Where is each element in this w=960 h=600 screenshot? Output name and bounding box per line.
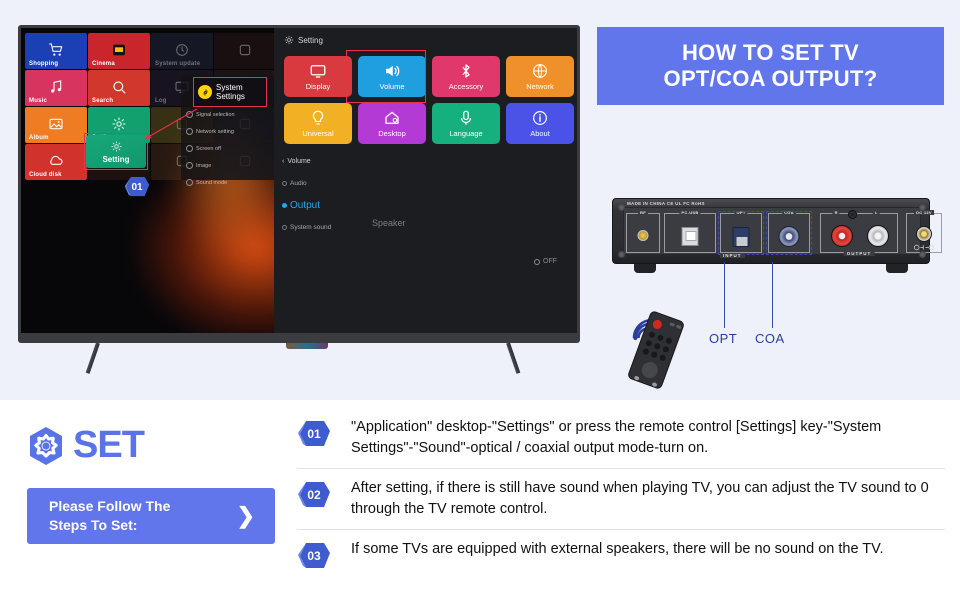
step-badge-01: 01 (124, 176, 150, 198)
settings-tile-language[interactable]: Language (432, 103, 500, 144)
music-icon (48, 79, 64, 95)
system-menu-item-label: Signal selection (196, 112, 235, 118)
app-tile-label: Shopping (29, 61, 83, 67)
remote-control (630, 310, 690, 390)
settings-tile-label: Display (306, 82, 331, 91)
port-label-r: R (833, 210, 840, 215)
converter-device: MADE IN CHINA CE UL FC RoHS RF PC-USB (612, 198, 930, 276)
side-menu-item-label: Output (290, 200, 320, 211)
off-label: OFF (543, 258, 557, 265)
usb-b-jack-icon (682, 227, 699, 246)
app-tile-album[interactable]: Album (25, 107, 87, 143)
app-tile-label: Search (92, 98, 146, 104)
screw-icon (618, 251, 625, 258)
app-tile-label: Cloud disk (29, 172, 83, 178)
cloud-icon (48, 153, 64, 169)
tv-settings-panel: Setting DisplayVolumeAccessoryNetworkUni… (274, 28, 577, 333)
system-settings-label: System Settings (216, 83, 266, 102)
coa-callout-label: COA (755, 331, 785, 346)
app-tile-music[interactable]: Music (25, 70, 87, 106)
step-item: 03If some TVs are equipped with external… (297, 529, 945, 581)
screw-icon (618, 204, 625, 211)
menu-bullet-icon (186, 179, 193, 186)
menu-bullet-icon (282, 181, 287, 186)
steps-list: 01"Application" desktop-"Settings" or pr… (297, 408, 945, 581)
set-logo-text: SET (73, 424, 144, 467)
info-icon (530, 109, 550, 127)
device-top-marking: MADE IN CHINA CE UL FC RoHS (627, 201, 705, 206)
port-label-l: L (873, 210, 880, 215)
device-foot-left (634, 264, 656, 273)
device-foot-right (886, 264, 908, 273)
gear-icon (111, 116, 127, 132)
app-tile-system-update[interactable]: System update (151, 33, 213, 69)
volume-tile-highlight[interactable] (346, 50, 426, 103)
step-text: If some TVs are equipped with external s… (351, 539, 884, 560)
film-icon (111, 42, 127, 58)
device-faceplate: RF PC-USB OPT (623, 207, 921, 255)
settings-tile-about[interactable]: About (506, 103, 574, 144)
step-text: After setting, if there is still have so… (351, 478, 945, 520)
remote-button[interactable] (662, 345, 670, 353)
bulb-icon (308, 109, 328, 127)
setting-tile[interactable]: Setting (86, 135, 146, 168)
top-section: ShoppingCinemaSystem updateMusicSearchLo… (0, 0, 960, 400)
remote-button[interactable] (645, 339, 653, 347)
remote-button[interactable] (654, 342, 662, 350)
home-icon (382, 109, 402, 127)
menu-bullet-icon (282, 225, 287, 230)
center-screw-icon (848, 210, 857, 219)
app-icon (237, 42, 253, 58)
rf-jack-icon (638, 230, 649, 241)
settings-tile-display[interactable]: Display (284, 56, 352, 97)
settings-tile-grid: DisplayVolumeAccessoryNetworkUniversalDe… (284, 56, 574, 144)
gear-hexagon-icon (28, 426, 64, 466)
remote-button[interactable] (642, 348, 650, 356)
settings-side-menu: ‹VolumeAudioOutputSystem sound (276, 150, 346, 238)
side-menu-item-output[interactable]: Output (276, 194, 346, 216)
photo-icon (48, 116, 64, 132)
step-number-label: 01 (297, 420, 331, 448)
app-tile-label: Music (29, 98, 83, 104)
port-group-output: R L OUTPUT (820, 213, 898, 253)
search-icon (111, 79, 127, 95)
setting-tile-label: Setting (102, 155, 129, 164)
settings-tile-label: Language (449, 129, 482, 138)
settings-tile-desktop[interactable]: Desktop (358, 103, 426, 144)
cart-icon (48, 42, 64, 58)
settings-panel-header: Setting (284, 35, 323, 45)
cta-text: Please Follow The Steps To Set: (49, 497, 170, 535)
cta-line1: Please Follow The (49, 498, 170, 514)
step-number-badge: 01 (297, 420, 331, 448)
system-menu-item-label: Sound mode (196, 180, 227, 186)
menu-bullet-icon (186, 162, 193, 169)
settings-tile-network[interactable]: Network (506, 56, 574, 97)
remote-button[interactable] (648, 331, 656, 339)
polarity-icon (913, 244, 935, 251)
step-number-label: 03 (297, 542, 331, 570)
input-group-label: INPUT (720, 253, 745, 258)
remote-button[interactable] (659, 354, 667, 362)
header-title-line2: OPT/COA OUTPUT? (664, 66, 878, 92)
settings-panel-title: Setting (298, 36, 323, 45)
side-menu-back[interactable]: ‹Volume (276, 150, 346, 172)
tv-leg-right (506, 342, 520, 374)
menu-bullet-icon (186, 145, 193, 152)
search-icon (111, 79, 127, 95)
port-group-rf: RF (626, 213, 660, 253)
gear-icon (110, 140, 123, 153)
opt-callout-label: OPT (709, 331, 737, 346)
remote-button[interactable] (676, 325, 682, 330)
globe-icon (530, 62, 550, 80)
gear-icon (284, 35, 294, 45)
power-button[interactable] (652, 319, 664, 331)
radio-icon (534, 259, 540, 265)
output-group-label: OUTPUT (844, 251, 875, 256)
bottom-section: SET Please Follow The Steps To Set: ❯ 01… (0, 400, 960, 600)
step-number-badge: 03 (297, 542, 331, 570)
speaker-section-title: Speaker (372, 218, 406, 228)
follow-steps-button[interactable]: Please Follow The Steps To Set: ❯ (27, 488, 275, 544)
step-number-badge: 02 (297, 481, 331, 509)
settings-tile-label: Accessory (449, 82, 484, 91)
app-tile-cloud-disk[interactable]: Cloud disk (25, 144, 87, 180)
rca-red-jack-icon (831, 225, 853, 247)
monitor-icon (308, 62, 328, 80)
settings-tile-universal[interactable]: Universal (284, 103, 352, 144)
set-logo: SET (28, 424, 144, 467)
side-menu-item-system-sound[interactable]: System sound (276, 216, 346, 238)
app-tile-search[interactable]: Search (88, 70, 150, 106)
tv-screen: ShoppingCinemaSystem updateMusicSearchLo… (21, 28, 577, 333)
remote-button[interactable] (665, 337, 673, 345)
header-card: HOW TO SET TV OPT/COA OUTPUT? (597, 27, 944, 105)
coa-callout-line (772, 262, 773, 328)
remote-button[interactable] (634, 375, 640, 380)
update-icon (174, 42, 190, 58)
side-menu-item-audio[interactable]: Audio (276, 172, 346, 194)
dc-power-jack-icon (916, 226, 932, 242)
app-tile-3[interactable] (214, 33, 276, 69)
music-icon (48, 79, 64, 95)
app-tile-cinema[interactable]: Cinema (88, 33, 150, 69)
header-title-line1: HOW TO SET TV (682, 40, 859, 66)
system-menu-item-label: Image (196, 163, 211, 169)
gear-icon (198, 85, 212, 99)
dpad-button[interactable] (640, 360, 661, 381)
device-body: MADE IN CHINA CE UL FC RoHS RF PC-USB (612, 198, 930, 264)
infographic-page: ShoppingCinemaSystem updateMusicSearchLo… (0, 0, 960, 600)
system-menu-item-label: Network setting (196, 129, 234, 135)
chevron-left-icon: ‹ (282, 158, 284, 165)
remote-button[interactable] (669, 322, 675, 327)
cta-line2: Steps To Set: (49, 517, 137, 533)
power-label: DC 12V (914, 210, 934, 215)
port-label-usb: PC-USB (679, 210, 700, 215)
cloud-icon (48, 153, 64, 169)
screw-icon (919, 204, 926, 211)
output-off-toggle[interactable]: OFF (534, 258, 557, 265)
settings-tile-label: Desktop (378, 129, 406, 138)
tv-leg-left (86, 342, 100, 374)
settings-tile-accessory[interactable]: Accessory (432, 56, 500, 97)
film-icon (111, 42, 127, 58)
pointer-arrow-icon (141, 106, 201, 142)
step-text: "Application" desktop-"Settings" or pres… (351, 417, 945, 459)
photo-icon (48, 116, 64, 132)
side-menu-back-label: Volume (287, 158, 310, 165)
tv-illustration: ShoppingCinemaSystem updateMusicSearchLo… (18, 25, 580, 345)
tv-home-panel: ShoppingCinemaSystem updateMusicSearchLo… (21, 28, 274, 180)
side-menu-item-label: System sound (290, 224, 331, 231)
cart-icon (48, 42, 64, 58)
settings-tile-label: Universal (302, 129, 333, 138)
coa-port-selection (766, 211, 812, 255)
port-label-rf: RF (638, 210, 648, 215)
tv-logo-badge (286, 343, 328, 349)
rca-white-jack-icon (867, 225, 889, 247)
opt-callout-line (724, 262, 725, 328)
bluetooth-icon (456, 62, 476, 80)
system-menu-item[interactable]: Screen off (181, 140, 274, 157)
settings-tile-label: Network (526, 82, 554, 91)
settings-tile-label: About (530, 129, 550, 138)
mic-icon (456, 109, 476, 127)
screw-icon (919, 251, 926, 258)
port-group-power: DC 12V (906, 213, 942, 253)
app-tile-label: System update (155, 61, 209, 67)
menu-bullet-icon (282, 203, 287, 208)
app-tile-shopping[interactable]: Shopping (25, 33, 87, 69)
app-tile-label: Cinema (92, 61, 146, 67)
setting-tile-highlight[interactable]: Setting (84, 133, 148, 170)
step-badge-01-label: 01 (124, 176, 150, 198)
step-number-label: 02 (297, 481, 331, 509)
update-icon (174, 42, 190, 58)
step-item: 02After setting, if there is still have … (297, 468, 945, 529)
system-menu-item[interactable]: Sound mode (181, 174, 274, 191)
remote-button[interactable] (652, 382, 658, 387)
app-icon (237, 42, 253, 58)
opt-port-selection (718, 211, 764, 255)
system-settings-highlight[interactable]: System Settings (193, 77, 267, 107)
step-item: 01"Application" desktop-"Settings" or pr… (297, 408, 945, 468)
system-menu-item-label: Screen off (196, 146, 221, 152)
side-menu-item-label: Audio (290, 180, 307, 187)
remote-button[interactable] (650, 351, 658, 359)
app-tile-label: Album (29, 135, 83, 141)
tv-bezel: ShoppingCinemaSystem updateMusicSearchLo… (18, 25, 580, 343)
gear-icon (111, 116, 127, 132)
chevron-right-icon: ❯ (237, 503, 255, 529)
port-group-usb: PC-USB (664, 213, 716, 253)
remote-button[interactable] (657, 334, 665, 342)
system-menu-item[interactable]: Image (181, 157, 274, 174)
